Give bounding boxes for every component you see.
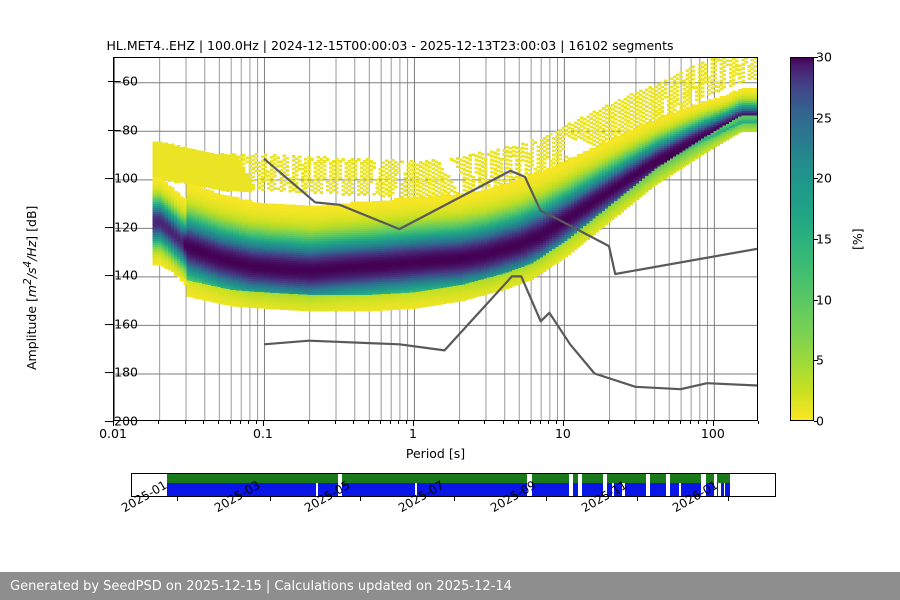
colorbar-tick-label: 30 xyxy=(816,50,832,65)
x-tick-label: 1 xyxy=(409,426,417,441)
timeline-segment-upper xyxy=(582,474,603,483)
x-tick-mark xyxy=(634,421,635,424)
x-tick-mark xyxy=(563,421,564,426)
x-tick-mark xyxy=(390,421,391,424)
x-tick-mark xyxy=(653,421,654,424)
x-tick-mark xyxy=(530,421,531,424)
colorbar-label: [%] xyxy=(850,228,865,250)
timeline-gap xyxy=(679,483,682,496)
y-tick-mark xyxy=(108,275,113,276)
y-tick-mark xyxy=(108,178,113,179)
colorbar-tick-mark xyxy=(814,57,818,58)
x-tick-mark xyxy=(518,421,519,424)
x-tick-mark xyxy=(698,421,699,424)
x-tick-mark xyxy=(758,421,759,424)
x-tick-mark xyxy=(540,421,541,424)
timeline-tick-mark xyxy=(177,497,178,501)
x-tick-label: 100 xyxy=(701,426,725,441)
timeline-gap xyxy=(724,483,726,496)
x-tick-mark xyxy=(218,421,219,424)
seedpsd-figure: HL.MET4..EHZ | 100.0Hz | 2024-12-15T00:0… xyxy=(0,0,900,600)
x-tick-mark xyxy=(503,421,504,424)
x-tick-mark xyxy=(398,421,399,424)
x-tick-mark xyxy=(158,421,159,424)
x-tick-mark xyxy=(256,421,257,424)
footer-text: Generated by SeedPSD on 2025-12-15 | Cal… xyxy=(10,579,512,594)
timeline-tick-mark xyxy=(728,497,729,501)
timeline-segment-lower xyxy=(573,483,578,496)
x-tick-mark xyxy=(308,421,309,424)
psd-plot-area[interactable] xyxy=(113,57,758,421)
x-tick-mark xyxy=(263,421,264,426)
y-tick-label: −80 xyxy=(112,122,138,137)
x-tick-mark xyxy=(548,421,549,424)
timeline-tick-mark xyxy=(637,497,638,501)
y-tick-mark xyxy=(108,81,113,82)
timeline-segment[interactable] xyxy=(650,474,665,496)
x-tick-mark xyxy=(203,421,204,424)
x-tick-mark xyxy=(406,421,407,424)
timeline-segment-upper xyxy=(573,474,578,483)
y-tick-mark xyxy=(108,227,113,228)
colorbar-tick-mark xyxy=(814,360,818,361)
x-tick-mark xyxy=(240,421,241,424)
colorbar-tick-mark xyxy=(814,421,818,422)
timeline-segment-upper xyxy=(607,474,646,483)
y-axis-label: Amplitude [m2/s4/Hz] [dB] xyxy=(22,206,39,370)
x-tick-mark xyxy=(380,421,381,424)
colorbar-tick-label: 20 xyxy=(816,171,832,186)
x-tick-mark xyxy=(113,421,114,426)
y-tick-label: −60 xyxy=(112,74,138,89)
timeline-segment-upper xyxy=(650,474,665,483)
nhnm-curve xyxy=(264,159,758,274)
timeline-tick-mark xyxy=(270,497,271,501)
x-tick-label: 0.01 xyxy=(99,426,127,441)
timeline-tick-mark xyxy=(360,497,361,501)
x-tick-mark xyxy=(413,421,414,426)
colorbar-tick-label: 10 xyxy=(816,292,832,307)
x-tick-mark xyxy=(248,421,249,424)
timeline-segment-upper xyxy=(532,474,569,483)
timeline-tick-mark xyxy=(454,497,455,501)
colorbar-tick-mark xyxy=(814,300,818,301)
x-tick-mark xyxy=(335,421,336,424)
timeline-segment-lower xyxy=(650,483,665,496)
x-tick-label: 10 xyxy=(555,426,571,441)
timeline-segment-upper xyxy=(717,474,730,483)
x-tick-mark xyxy=(668,421,669,424)
x-tick-mark xyxy=(713,421,714,426)
colorbar-tick-mark xyxy=(814,118,818,119)
colorbar-tick-label: 25 xyxy=(816,110,832,125)
x-tick-mark xyxy=(690,421,691,424)
timeline-tick-mark xyxy=(546,497,547,501)
colorbar-tick-label: 15 xyxy=(816,232,832,247)
nlnm-curve xyxy=(264,276,758,389)
x-tick-mark xyxy=(608,421,609,424)
x-tick-mark xyxy=(706,421,707,424)
x-tick-mark xyxy=(185,421,186,424)
x-axis-label: Period [s] xyxy=(113,446,758,461)
timeline-segment[interactable] xyxy=(573,474,578,496)
timeline-segment-upper xyxy=(670,474,701,483)
timeline-segment[interactable] xyxy=(532,474,569,496)
x-tick-mark xyxy=(484,421,485,424)
x-tick-mark xyxy=(556,421,557,424)
y-tick-mark xyxy=(108,324,113,325)
page-title: HL.MET4..EHZ | 100.0Hz | 2024-12-15T00:0… xyxy=(0,38,780,53)
footer-bar: Generated by SeedPSD on 2025-12-15 | Cal… xyxy=(0,572,900,600)
colorbar-tick-mark xyxy=(814,239,818,240)
y-tick-mark xyxy=(108,130,113,131)
noise-model-curves xyxy=(114,58,758,421)
x-tick-mark xyxy=(680,421,681,424)
colorbar-tick-mark xyxy=(814,178,818,179)
x-tick-mark xyxy=(458,421,459,424)
x-tick-mark xyxy=(230,421,231,424)
colorbar[interactable] xyxy=(790,57,814,421)
x-tick-label: 0.1 xyxy=(253,426,273,441)
x-tick-mark xyxy=(353,421,354,424)
y-tick-mark xyxy=(108,372,113,373)
x-tick-mark xyxy=(368,421,369,424)
